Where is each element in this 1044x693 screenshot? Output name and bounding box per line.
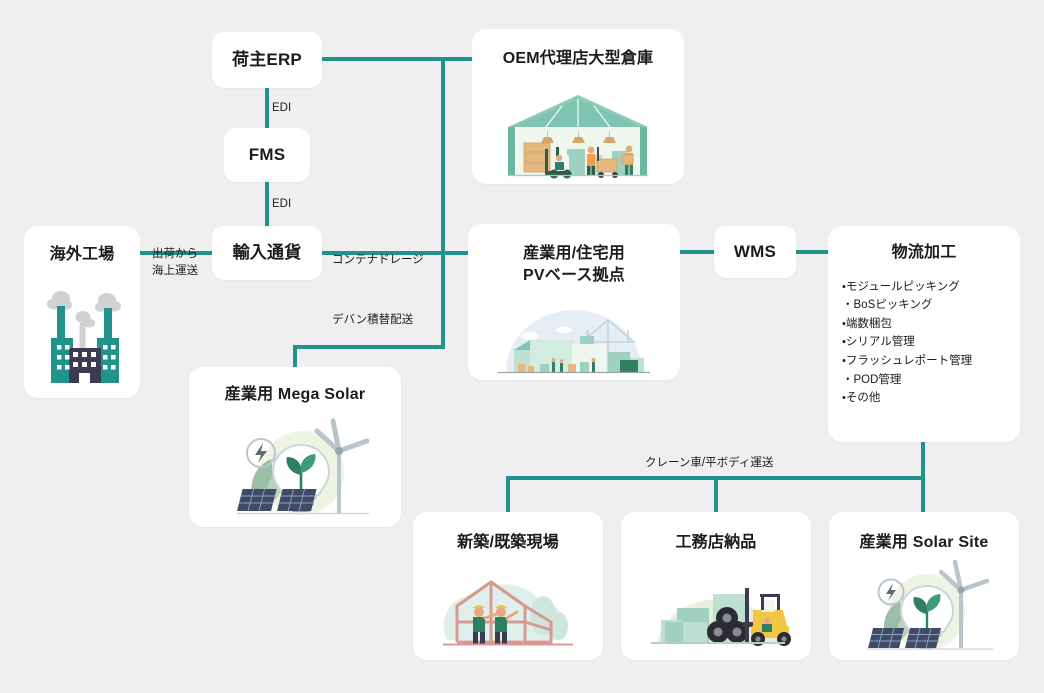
- edge-label-shipping-line1: 出荷から: [152, 246, 198, 263]
- node-komuten-delivery[interactable]: 工務店納品: [621, 512, 811, 660]
- wire-trunk-vertical: [441, 57, 445, 257]
- edge-label-drayage: コンテナドレージ: [332, 252, 424, 268]
- node-overseas-factory-label: 海外工場: [24, 244, 140, 266]
- wire-fms-to-import: [265, 180, 269, 228]
- node-pv-base[interactable]: 産業用/住宅用 PVベース拠点: [468, 224, 680, 380]
- wire-bus-to-new-build: [506, 476, 510, 516]
- pv-base-illustration-icon: [468, 300, 680, 380]
- house-frame-illustration-icon: [413, 560, 603, 656]
- factory-illustration-icon: [24, 278, 140, 390]
- node-oem-warehouse-label: OEM代理店大型倉庫: [472, 48, 684, 70]
- list-item: ・シリアル管理: [842, 333, 1020, 352]
- node-wms[interactable]: WMS: [714, 226, 796, 278]
- list-item: ・BoSピッキング: [842, 296, 1020, 315]
- node-wms-label: WMS: [714, 226, 796, 278]
- node-shipper-erp[interactable]: 荷主ERP: [212, 32, 322, 88]
- wire-erp-to-oem: [320, 57, 474, 61]
- wire-erp-to-fms: [265, 86, 269, 130]
- wire-bus-to-komuten: [714, 476, 718, 516]
- node-fms[interactable]: FMS: [224, 128, 310, 182]
- node-komuten-delivery-label: 工務店納品: [621, 532, 811, 554]
- node-logistics-processing-label: 物流加工: [828, 242, 1020, 264]
- warehouse-illustration-icon: [472, 87, 684, 179]
- node-new-build-site[interactable]: 新築/既築現場: [413, 512, 603, 660]
- list-item: ・その他: [842, 389, 1020, 408]
- edge-label-crane-transport: クレーン車/平ボディ運送: [645, 455, 773, 471]
- logistics-processing-list: ・モジュールピッキング ・BoSピッキング ・端数梱包 ・シリアル管理 ・フラッ…: [842, 278, 1020, 408]
- node-industrial-solar-site[interactable]: 産業用 Solar Site: [829, 512, 1019, 660]
- wire-devanning-horizontal: [293, 345, 445, 349]
- list-item: ・端数梱包: [842, 315, 1020, 334]
- node-mega-solar[interactable]: 産業用 Mega Solar: [189, 367, 401, 527]
- node-new-build-site-label: 新築/既築現場: [413, 532, 603, 554]
- wire-devanning-vertical: [441, 251, 445, 349]
- node-fms-label: FMS: [224, 128, 310, 182]
- edge-label-devanning: デバン積替配送: [332, 312, 413, 328]
- edge-label-edi-bottom: EDI: [272, 196, 291, 212]
- node-logistics-processing[interactable]: 物流加工 ・モジュールピッキング ・BoSピッキング ・端数梱包 ・シリアル管理…: [828, 226, 1020, 442]
- node-pv-base-label: 産業用/住宅用 PVベース拠点: [468, 243, 680, 286]
- edge-label-shipping: 出荷から 海上運送: [152, 246, 198, 280]
- node-overseas-factory[interactable]: 海外工場: [24, 226, 140, 398]
- forklift-illustration-icon: [621, 560, 811, 656]
- diagram-canvas: EDI EDI 出荷から 海上運送 コンテナドレージ デバン積替配送 クレーン車…: [0, 0, 1044, 693]
- list-item: ・フラッシュレポート管理: [842, 352, 1020, 371]
- node-shipper-erp-label: 荷主ERP: [212, 32, 322, 88]
- node-pv-base-label-line2: PVベース拠点: [468, 265, 680, 287]
- solar-bulb-illustration-icon: [189, 415, 401, 519]
- wire-pv-to-wms: [678, 250, 716, 254]
- list-item: ・POD管理: [842, 371, 1020, 390]
- node-pv-base-label-line1: 産業用/住宅用: [468, 243, 680, 265]
- node-industrial-solar-site-label: 産業用 Solar Site: [829, 532, 1019, 554]
- node-import-clearance-label: 輸入通貨: [212, 226, 322, 280]
- solar-bulb-illustration-icon: [829, 556, 1019, 656]
- edge-label-shipping-line2: 海上運送: [152, 263, 198, 280]
- list-item: ・モジュールピッキング: [842, 278, 1020, 297]
- node-oem-warehouse[interactable]: OEM代理店大型倉庫: [472, 29, 684, 184]
- wire-wms-to-processing: [794, 250, 830, 254]
- node-mega-solar-label: 産業用 Mega Solar: [189, 384, 401, 406]
- node-import-clearance[interactable]: 輸入通貨: [212, 226, 322, 280]
- edge-label-edi-top: EDI: [272, 100, 291, 116]
